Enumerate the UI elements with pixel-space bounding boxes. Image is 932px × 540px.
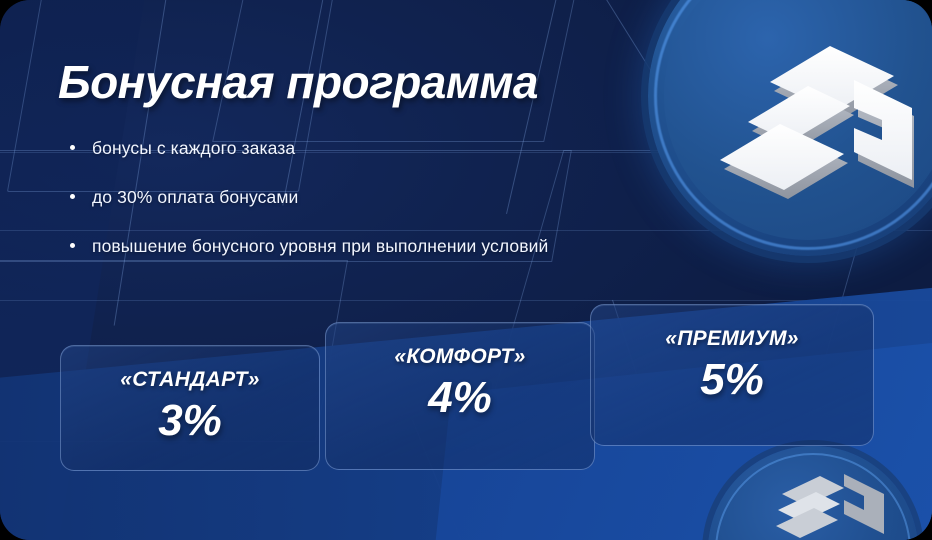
bullet-dot-icon (70, 145, 75, 150)
benefit-text: повышение бонусного уровня при выполнени… (92, 236, 548, 257)
card-percent-value: 4% (326, 373, 594, 423)
card-title: «КОМФОРТ» (326, 345, 594, 369)
card-percent-value: 5% (591, 355, 873, 405)
card-title: «ПРЕМИУМ» (591, 327, 873, 351)
benefits-list: бонусы с каждого заказа до 30% оплата бо… (70, 138, 770, 285)
card-title: «СТАНДАРТ» (61, 368, 319, 392)
background-hline-3 (0, 300, 932, 301)
bonus-level-card-premium: «ПРЕМИУМ» 5% (590, 304, 874, 446)
list-item: бонусы с каждого заказа (70, 138, 770, 159)
bonus-level-card-standart: «СТАНДАРТ» 3% (60, 345, 320, 471)
bonus-program-banner: Бонусная программа бонусы с каждого зака… (0, 0, 932, 540)
bonus-level-card-komfort: «КОМФОРТ» 4% (325, 322, 595, 470)
benefit-text: до 30% оплата бонусами (92, 187, 298, 208)
bullet-dot-icon (70, 243, 75, 248)
page-title: Бонусная программа (58, 55, 538, 109)
benefit-text: бонусы с каждого заказа (92, 138, 295, 159)
bullet-dot-icon (70, 194, 75, 199)
brand-logo-icon-small (772, 454, 892, 540)
card-percent-value: 3% (61, 396, 319, 446)
list-item: до 30% оплата бонусами (70, 187, 770, 208)
list-item: повышение бонусного уровня при выполнени… (70, 236, 770, 257)
